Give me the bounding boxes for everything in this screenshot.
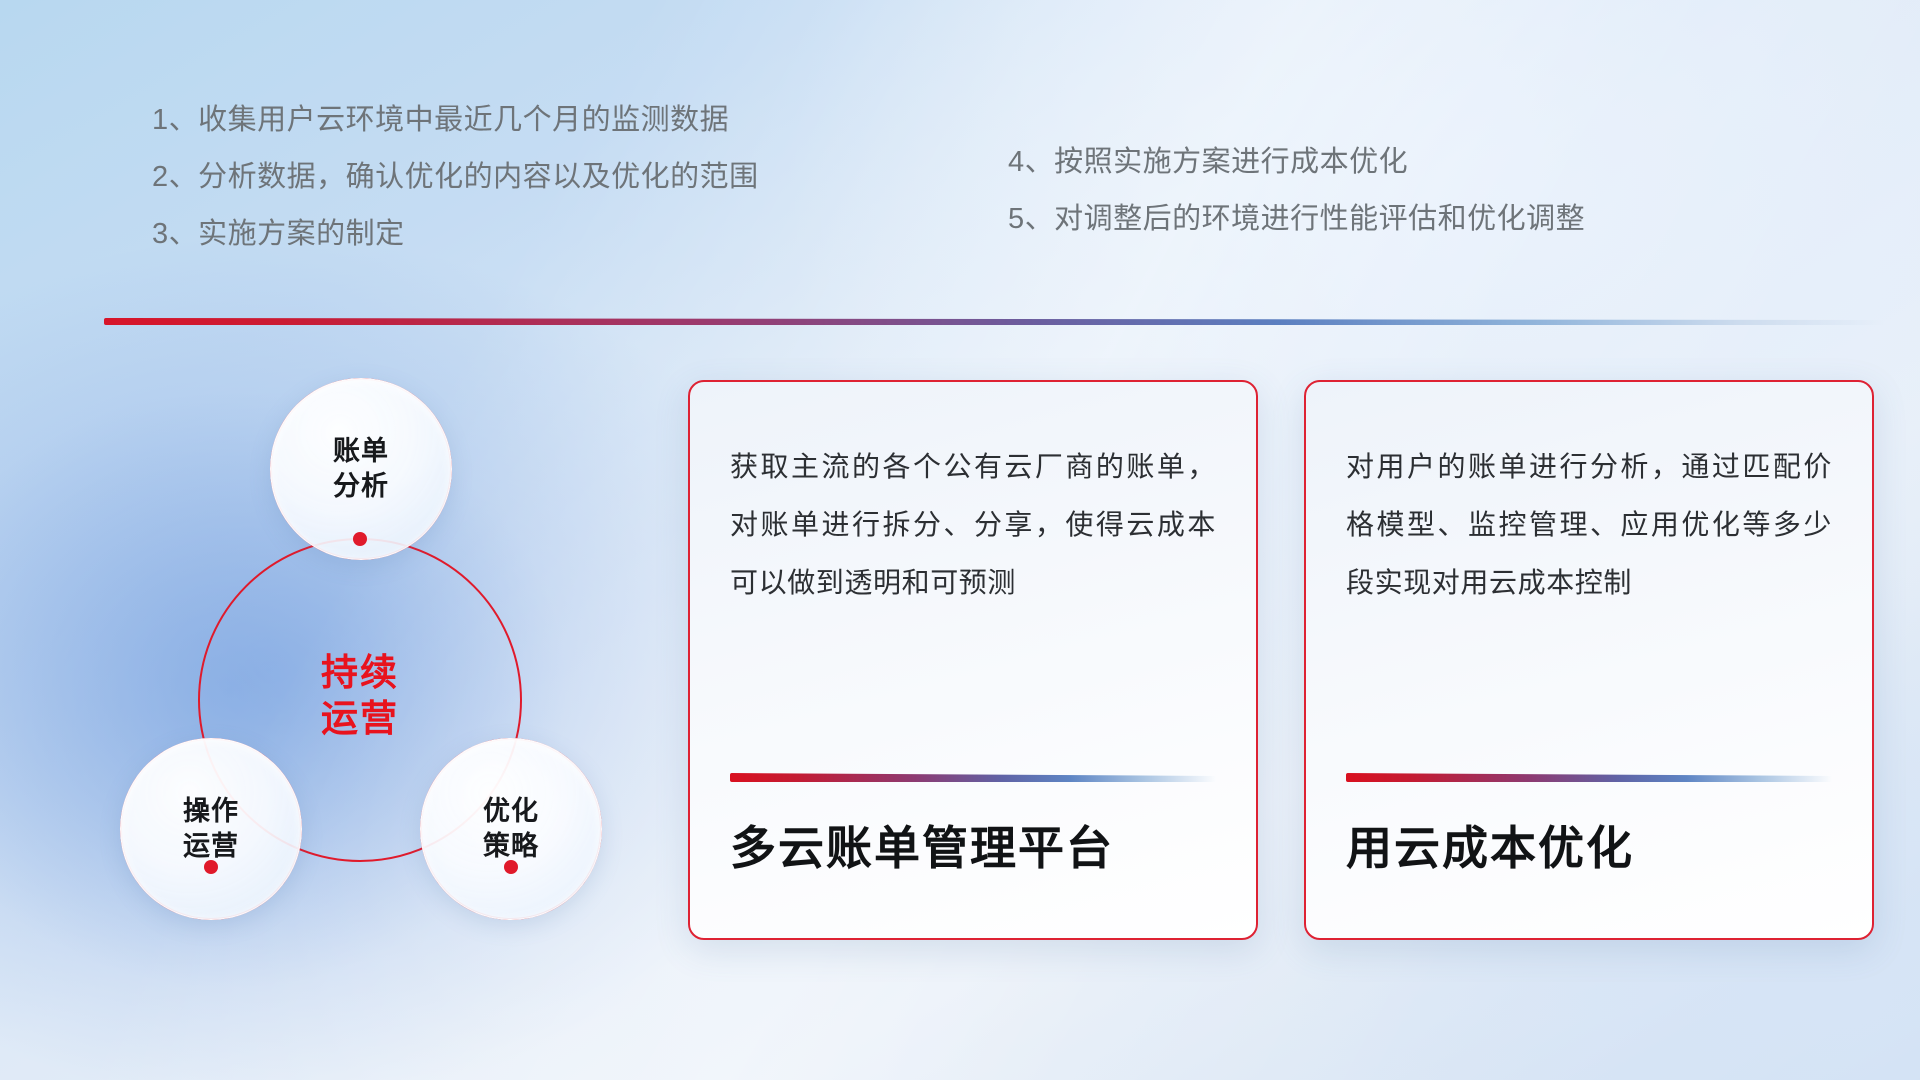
card-cloud-cost-optimization[interactable]: 对用户的账单进行分析，通过匹配价格模型、监控管理、应用优化等多少段实现对用云成本…: [1304, 380, 1874, 940]
card-body-text: 获取主流的各个公有云厂商的账单，对账单进行拆分、分享，使得云成本可以做到透明和可…: [730, 438, 1216, 612]
venn-node-optimization-strategy[interactable]: 优化 策略: [420, 738, 602, 920]
venn-node-label: 优化 策略: [483, 794, 539, 863]
steps-right-column: 4、按照实施方案进行成本优化 5、对调整后的环境进行性能评估和优化调整: [1008, 148, 1585, 262]
venn-center-label: 持续 运营: [260, 650, 460, 742]
card-title: 多云账单管理平台: [730, 812, 1216, 878]
step-item-2: 2、分析数据，确认优化的内容以及优化的范围: [152, 163, 759, 192]
venn-node-label: 操作 运营: [183, 794, 239, 863]
steps-left-column: 1、收集用户云环境中最近几个月的监测数据 2、分析数据，确认优化的内容以及优化的…: [152, 106, 759, 277]
venn-node-label: 账单 分析: [333, 434, 389, 503]
connector-dot-top: [353, 532, 367, 546]
connector-dot-bottom-right: [504, 860, 518, 874]
card-divider: [1346, 773, 1832, 782]
card-title: 用云成本优化: [1346, 812, 1832, 878]
connector-dot-bottom-left: [204, 860, 218, 874]
section-divider: [104, 318, 1884, 325]
step-item-4: 4、按照实施方案进行成本优化: [1008, 148, 1585, 177]
card-multi-cloud-billing-platform[interactable]: 获取主流的各个公有云厂商的账单，对账单进行拆分、分享，使得云成本可以做到透明和可…: [688, 380, 1258, 940]
step-item-5: 5、对调整后的环境进行性能评估和优化调整: [1008, 205, 1585, 234]
venn-node-operations[interactable]: 操作 运营: [120, 738, 302, 920]
card-divider: [730, 773, 1216, 782]
step-item-3: 3、实施方案的制定: [152, 220, 759, 249]
step-item-1: 1、收集用户云环境中最近几个月的监测数据: [152, 106, 759, 135]
steps-list: 1、收集用户云环境中最近几个月的监测数据 2、分析数据，确认优化的内容以及优化的…: [0, 106, 1920, 306]
continuous-operations-diagram: 账单 分析 操作 运营 优化 策略 持续 运营: [100, 360, 660, 940]
card-body-text: 对用户的账单进行分析，通过匹配价格模型、监控管理、应用优化等多少段实现对用云成本…: [1346, 438, 1832, 612]
